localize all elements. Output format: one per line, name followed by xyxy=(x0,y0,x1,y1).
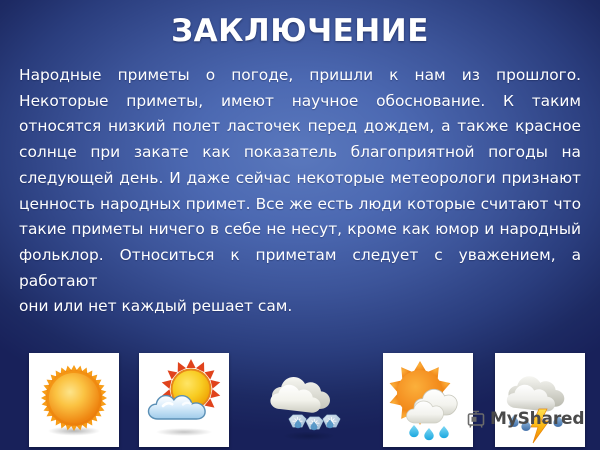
sun-behind-cloud-icon xyxy=(139,353,229,447)
body-paragraph: Народные приметы о погоде, пришли к нам … xyxy=(19,66,581,290)
weather-icon-sun-rain xyxy=(383,353,473,447)
body-last-line: они или нет каждый решает сам. xyxy=(19,294,581,320)
weather-icon-partly-cloudy xyxy=(139,353,229,447)
watermark-text: MyShared xyxy=(490,409,584,429)
myshared-logo-icon xyxy=(466,409,486,429)
page-title: ЗАКЛЮЧЕНИЕ xyxy=(0,13,600,49)
thunderstorm-icon xyxy=(495,353,585,447)
watermark: MyShared xyxy=(466,406,584,432)
sun-icon xyxy=(29,353,119,447)
weather-icon-strip xyxy=(0,353,600,450)
body-text: Народные приметы о погоде, пришли к нам … xyxy=(19,63,581,320)
slide: ЗАКЛЮЧЕНИЕ Народные приметы о погоде, пр… xyxy=(0,0,600,450)
weather-icon-sunny xyxy=(29,353,119,447)
weather-icon-thunderstorm xyxy=(495,353,585,447)
weather-icon-sleet xyxy=(263,353,353,447)
sun-behind-rain-cloud-icon xyxy=(383,353,473,447)
cloud-with-sleet-icon xyxy=(263,353,353,447)
